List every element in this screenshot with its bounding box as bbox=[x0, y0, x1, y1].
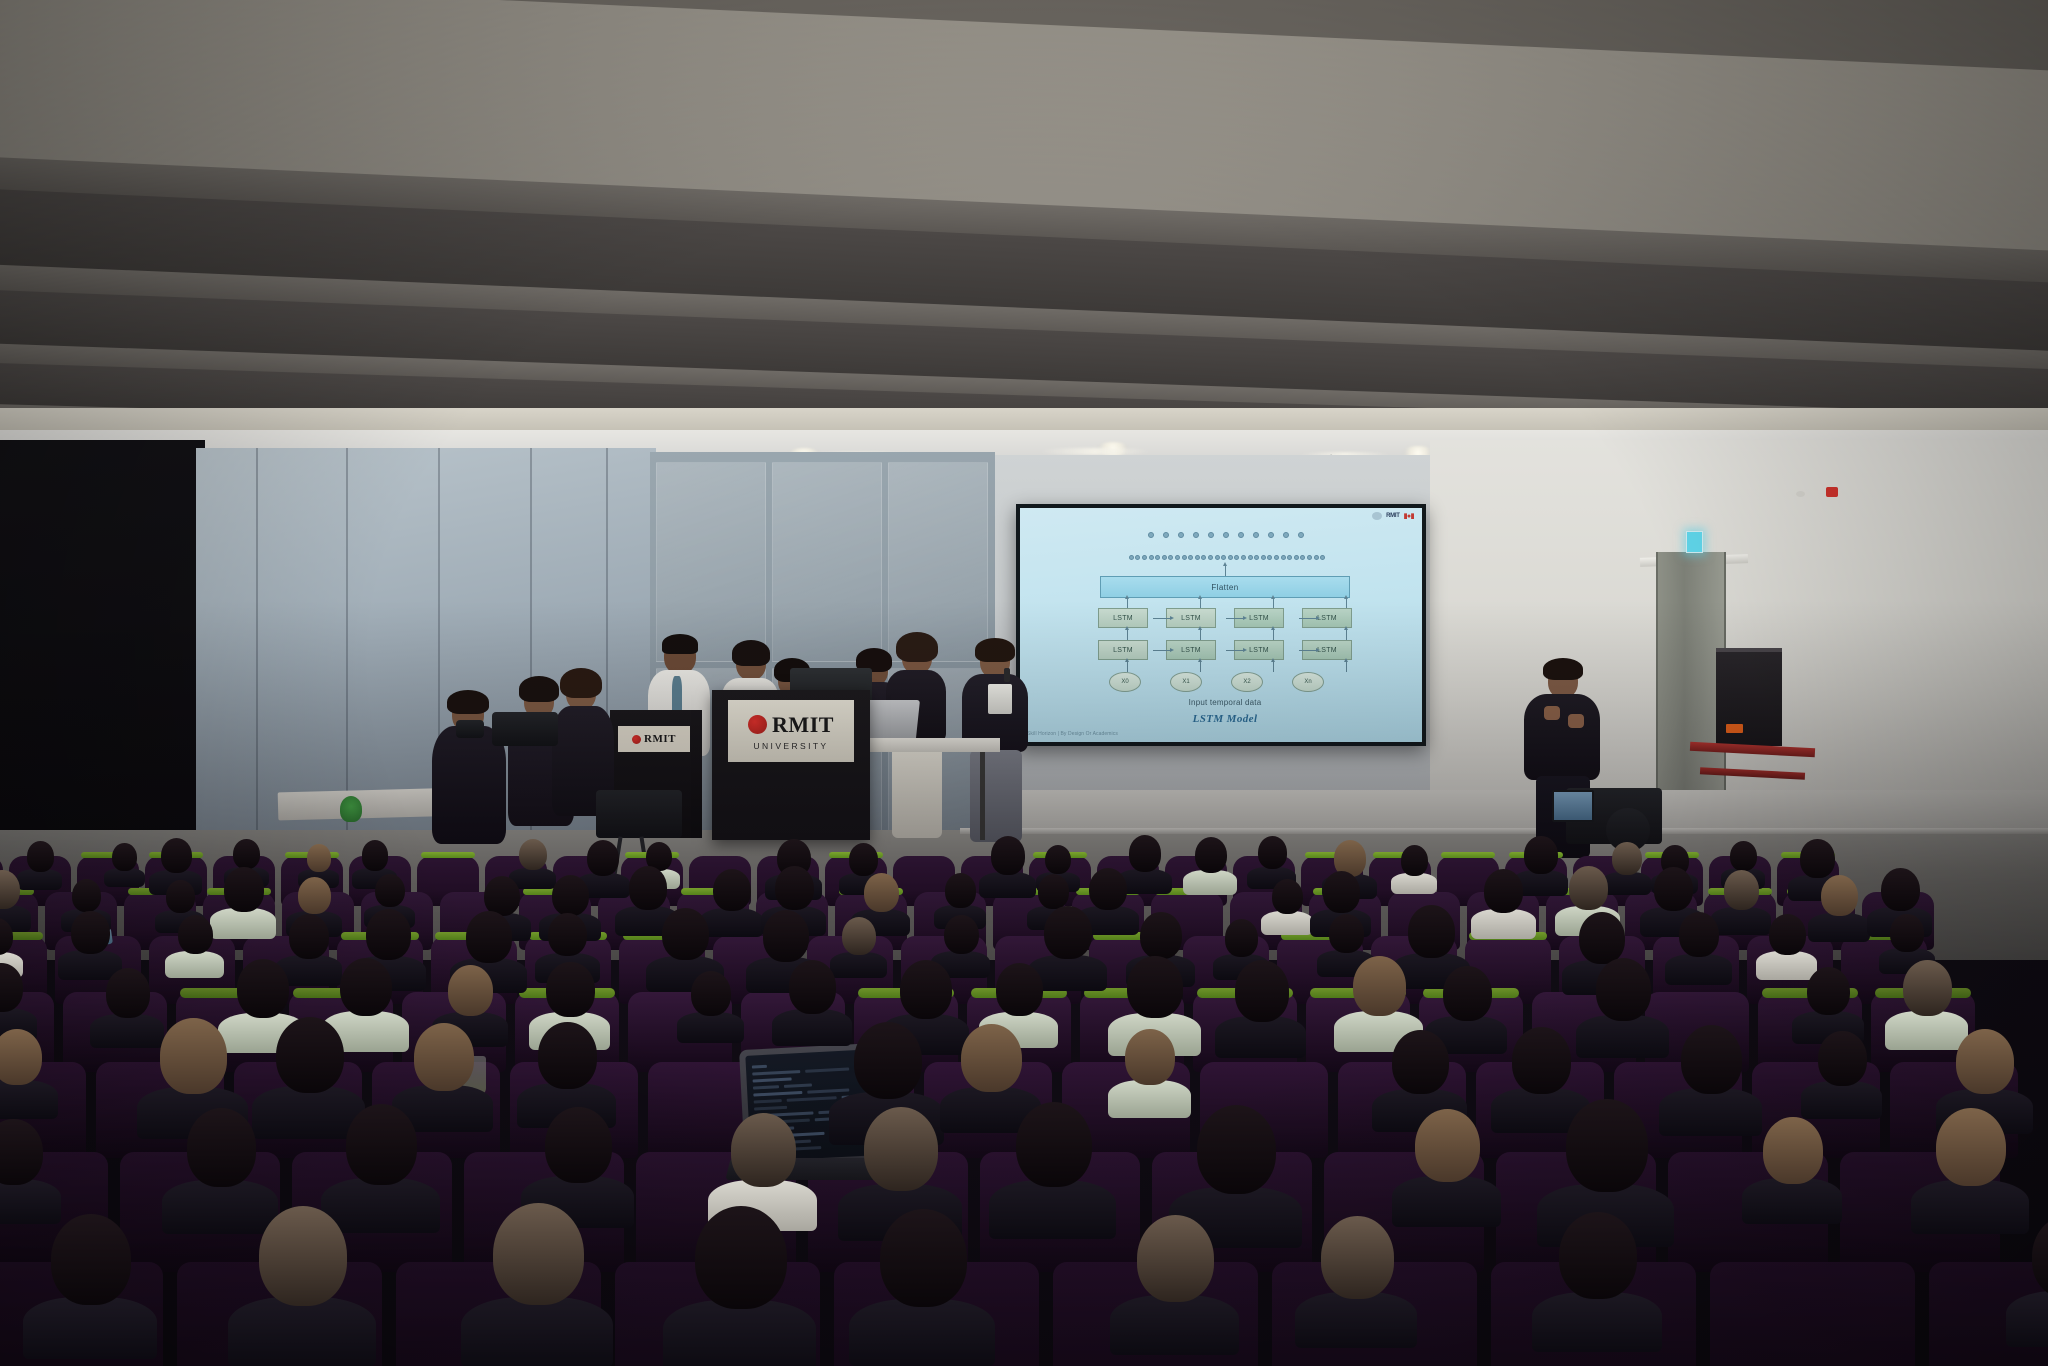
audience-member bbox=[1821, 875, 1858, 917]
audience-member bbox=[160, 1018, 227, 1093]
audience-member-torso bbox=[849, 1299, 994, 1366]
code-text-line bbox=[754, 1106, 787, 1111]
audience-member bbox=[519, 839, 547, 871]
audience-member bbox=[1484, 869, 1523, 913]
audience-member-torso bbox=[0, 1179, 61, 1224]
dense-layer-nodes bbox=[1098, 555, 1356, 560]
slide-surface: RMIT ▮●▮ Flatten LSTMLSTMLSTMLSTM LSTMLS… bbox=[1020, 508, 1422, 742]
audience-member bbox=[51, 1214, 131, 1304]
potted-plant bbox=[340, 796, 362, 822]
jbl-speaker-logo-icon bbox=[1726, 724, 1743, 733]
dense-node bbox=[1287, 555, 1292, 560]
output-node bbox=[1283, 532, 1289, 538]
audience-member-torso bbox=[461, 1297, 613, 1366]
audience-member bbox=[1235, 960, 1289, 1021]
audience-member bbox=[548, 913, 587, 957]
output-node bbox=[1268, 532, 1274, 538]
output-node bbox=[1148, 532, 1154, 538]
partner-logo-icon: ▮●▮ bbox=[1404, 512, 1414, 520]
audience-member bbox=[545, 1107, 612, 1183]
audience-member-torso bbox=[1183, 870, 1237, 895]
audience-member-torso bbox=[677, 1012, 744, 1043]
audience-member bbox=[629, 866, 667, 909]
audience-member-torso bbox=[1391, 873, 1436, 894]
audience-member bbox=[1401, 845, 1428, 876]
code-text-line bbox=[753, 1091, 802, 1097]
audience-member bbox=[1612, 842, 1641, 875]
audience-member bbox=[72, 879, 101, 912]
audience-member bbox=[1443, 966, 1492, 1021]
input-caption-label: Input temporal data bbox=[1020, 698, 1422, 707]
audience-member bbox=[1044, 906, 1091, 959]
camera-monitor-screen bbox=[1552, 790, 1594, 822]
code-text-line bbox=[787, 1096, 837, 1102]
audience-member bbox=[587, 840, 619, 877]
audience-member bbox=[166, 880, 196, 913]
audience-member bbox=[1197, 1105, 1276, 1194]
audience-member bbox=[448, 965, 493, 1016]
audience-member-torso bbox=[1801, 1081, 1883, 1119]
audience-member bbox=[493, 1203, 583, 1305]
audience-member-torso bbox=[104, 868, 145, 887]
audience-member bbox=[864, 1107, 938, 1191]
auditorium-seat[interactable] bbox=[1710, 1262, 1915, 1366]
audience-member bbox=[1936, 1108, 2006, 1187]
smoke-detector-icon bbox=[1796, 491, 1805, 497]
code-text-line bbox=[805, 1067, 849, 1072]
audience-member bbox=[346, 1104, 417, 1184]
audience-member bbox=[1654, 867, 1693, 911]
audience-member-torso bbox=[989, 1180, 1117, 1239]
audience-member bbox=[1415, 1109, 1480, 1183]
main-lectern: RMIT UNIVERSITY bbox=[712, 690, 870, 840]
audience-member-torso bbox=[1108, 1080, 1191, 1118]
audience-member bbox=[944, 915, 979, 955]
audience-member-torso bbox=[210, 908, 276, 939]
output-node bbox=[1298, 532, 1304, 538]
audience-member bbox=[996, 963, 1043, 1016]
audience-member bbox=[161, 838, 193, 874]
output-node bbox=[1163, 532, 1169, 538]
dense-node bbox=[1215, 555, 1220, 560]
dense-node bbox=[1274, 555, 1279, 560]
audience-member bbox=[538, 1022, 597, 1088]
output-node bbox=[1253, 532, 1259, 538]
lecture-theatre-scene: RMIT ▮●▮ Flatten LSTMLSTMLSTMLSTM LSTMLS… bbox=[0, 0, 2048, 1366]
audience-member bbox=[1890, 914, 1923, 952]
rmit-logo-icon bbox=[632, 735, 641, 744]
dense-node bbox=[1155, 555, 1160, 560]
audience-member bbox=[233, 839, 260, 869]
dense-node bbox=[1314, 555, 1319, 560]
dense-node bbox=[1241, 555, 1246, 560]
audience-member bbox=[961, 1024, 1022, 1092]
dense-node bbox=[1261, 555, 1266, 560]
audience-member bbox=[1125, 1029, 1174, 1085]
dense-node bbox=[1188, 555, 1193, 560]
rmit-logo-icon: RMIT bbox=[1386, 513, 1399, 519]
lectern-brand: RMIT bbox=[772, 712, 834, 738]
audience-member-torso bbox=[1808, 913, 1870, 942]
audience-member bbox=[1818, 1031, 1867, 1086]
audience-member-torso bbox=[1110, 1295, 1240, 1355]
audience-member bbox=[1724, 870, 1760, 910]
audience-member-torso bbox=[700, 908, 764, 937]
dense-node bbox=[1135, 555, 1140, 560]
audience-member bbox=[1730, 841, 1757, 871]
dense-node bbox=[1149, 555, 1154, 560]
audience-member bbox=[713, 869, 751, 912]
dense-node bbox=[1307, 555, 1312, 560]
audience-member bbox=[864, 873, 899, 913]
audience-member-torso bbox=[1576, 1015, 1669, 1058]
audience-member-torso bbox=[1659, 1088, 1762, 1136]
audience-member bbox=[1353, 956, 1406, 1016]
audience-member bbox=[1679, 912, 1719, 957]
audience-member bbox=[1137, 1215, 1214, 1302]
dense-node bbox=[1182, 555, 1187, 560]
audience-member bbox=[1140, 912, 1181, 959]
input-node: X2 bbox=[1231, 672, 1263, 692]
audience-member bbox=[276, 1017, 344, 1093]
secondary-lectern-brand: RMIT bbox=[644, 733, 676, 745]
flatten-label: Flatten bbox=[1211, 583, 1238, 592]
slot-light-icon bbox=[1040, 448, 1150, 455]
secondary-lectern-plate: RMIT bbox=[618, 726, 690, 752]
audience-member bbox=[1329, 914, 1364, 953]
audience-member-torso bbox=[772, 1009, 852, 1046]
lstm-cell: LSTM bbox=[1098, 640, 1148, 660]
code-text-line bbox=[754, 1099, 782, 1103]
signing-hand bbox=[1544, 706, 1560, 720]
audience-member bbox=[298, 877, 331, 915]
code-text-line bbox=[752, 1065, 767, 1069]
lectern-brand-plate: RMIT UNIVERSITY bbox=[728, 700, 854, 762]
slide-footer-text: Skill Horizon | By Design Or Academics bbox=[1027, 731, 1118, 737]
audience-member bbox=[289, 914, 329, 959]
dense-node bbox=[1234, 555, 1239, 560]
audience-member bbox=[224, 867, 264, 912]
audience-member bbox=[789, 960, 837, 1014]
audience-member bbox=[546, 962, 595, 1017]
audience-member bbox=[307, 844, 331, 872]
seat-accent-bar bbox=[421, 852, 475, 858]
audience-member bbox=[362, 840, 389, 870]
audience-member bbox=[552, 875, 589, 917]
audience-member-torso bbox=[17, 869, 62, 890]
dense-node bbox=[1281, 555, 1286, 560]
stage-edge bbox=[960, 828, 2048, 834]
audience-member bbox=[71, 911, 109, 954]
audience-member bbox=[1016, 1102, 1092, 1188]
audience-member-torso bbox=[830, 952, 887, 978]
dense-node bbox=[1129, 555, 1134, 560]
audience-member-torso bbox=[1911, 1180, 2028, 1234]
audience-member bbox=[691, 971, 731, 1016]
audience-member bbox=[1512, 1027, 1571, 1093]
audience-member-torso bbox=[1532, 1292, 1662, 1352]
dense-node bbox=[1221, 555, 1226, 560]
code-text-line bbox=[752, 1070, 800, 1076]
audience-member bbox=[1127, 956, 1182, 1019]
audience-member bbox=[106, 968, 150, 1018]
audience-member-torso bbox=[1295, 1292, 1417, 1348]
dense-node bbox=[1300, 555, 1305, 560]
output-node bbox=[1178, 532, 1184, 538]
audience-member bbox=[1038, 874, 1069, 909]
audience-member bbox=[1392, 1030, 1449, 1094]
audience-member bbox=[1408, 905, 1455, 958]
fire-alarm-icon bbox=[1826, 487, 1838, 497]
audience-member bbox=[259, 1206, 347, 1306]
audience-member bbox=[945, 873, 976, 908]
camera-handle bbox=[456, 720, 484, 738]
audience-member-torso bbox=[162, 1180, 278, 1234]
name-badge bbox=[988, 684, 1012, 714]
audience-member bbox=[1807, 967, 1850, 1015]
partner-logo-icon bbox=[1372, 512, 1382, 520]
audience-member-torso bbox=[1885, 1011, 1968, 1049]
audience-member bbox=[695, 1206, 786, 1309]
audience-member bbox=[1881, 868, 1920, 912]
input-node: X1 bbox=[1170, 672, 1202, 692]
audience-member bbox=[854, 1022, 922, 1099]
code-text-line bbox=[784, 1083, 812, 1087]
audience-member bbox=[112, 843, 137, 871]
audience-member-torso bbox=[663, 1300, 816, 1366]
slide-title: LSTM Model bbox=[1020, 713, 1422, 725]
dense-node bbox=[1168, 555, 1173, 560]
audience-member bbox=[1681, 1025, 1743, 1094]
dense-node bbox=[1195, 555, 1200, 560]
audience-member-torso bbox=[90, 1014, 164, 1048]
signing-hand bbox=[1568, 714, 1584, 728]
audience-member-torso bbox=[1392, 1176, 1501, 1226]
slide-logo-group: RMIT ▮●▮ bbox=[1372, 512, 1414, 520]
gimbal-camera-icon bbox=[492, 712, 558, 746]
audience-member bbox=[1566, 1099, 1648, 1192]
audience-member bbox=[178, 915, 213, 954]
audience-member bbox=[1569, 866, 1608, 910]
audience-member-torso bbox=[23, 1297, 157, 1359]
dense-node bbox=[1248, 555, 1253, 560]
audience-member bbox=[1258, 836, 1287, 869]
audience-member bbox=[1195, 837, 1227, 874]
audience-member-torso bbox=[165, 951, 224, 978]
audience-member bbox=[1045, 845, 1071, 874]
audience-member bbox=[466, 911, 512, 962]
audience-member bbox=[775, 866, 814, 910]
dense-node bbox=[1201, 555, 1206, 560]
dense-node bbox=[1320, 555, 1325, 560]
audience-member-torso bbox=[1471, 909, 1536, 939]
audience-member bbox=[414, 1023, 474, 1091]
audience-member-torso bbox=[1711, 907, 1771, 935]
tripod-camera-icon bbox=[596, 790, 682, 838]
microphone-icon bbox=[1004, 668, 1010, 682]
audience-member bbox=[1272, 879, 1303, 914]
lectern-brand-sub: UNIVERSITY bbox=[753, 741, 828, 751]
audience-member bbox=[1089, 868, 1126, 910]
audience-member bbox=[1129, 835, 1162, 872]
audience-member bbox=[849, 843, 878, 875]
audience-member bbox=[900, 960, 953, 1020]
audience-member bbox=[1763, 1117, 1822, 1184]
input-node: X0 bbox=[1109, 672, 1141, 692]
lstm-cell: LSTM bbox=[1098, 608, 1148, 628]
dense-node bbox=[1254, 555, 1259, 560]
seat-accent-bar bbox=[1441, 852, 1495, 858]
audience-member-torso bbox=[1215, 1016, 1306, 1058]
audience-member bbox=[1769, 914, 1805, 955]
audience-member bbox=[27, 841, 54, 871]
audience-member bbox=[1321, 1216, 1394, 1298]
input-node: Xn bbox=[1292, 672, 1324, 692]
audience-member bbox=[366, 909, 411, 960]
audience-member bbox=[880, 1209, 967, 1307]
output-layer-nodes bbox=[1126, 532, 1326, 538]
ceiling bbox=[0, 0, 2048, 470]
output-node bbox=[1193, 532, 1199, 538]
output-node bbox=[1208, 532, 1214, 538]
dense-node bbox=[1294, 555, 1299, 560]
audience-member-torso bbox=[1602, 872, 1651, 895]
audience-member bbox=[842, 917, 876, 955]
audience-member bbox=[1903, 960, 1952, 1016]
audience-member bbox=[1225, 919, 1259, 957]
audience-member bbox=[1323, 871, 1360, 912]
code-text-line bbox=[807, 1088, 849, 1093]
audience-member-torso bbox=[228, 1297, 376, 1365]
audience-member bbox=[1596, 958, 1651, 1020]
audience-member bbox=[375, 874, 405, 908]
projection-screen: RMIT ▮●▮ Flatten LSTMLSTMLSTMLSTM LSTMLS… bbox=[1016, 504, 1426, 746]
audience-member bbox=[731, 1113, 796, 1187]
audience-member-torso bbox=[1665, 954, 1732, 985]
audience-member-torso bbox=[0, 1080, 58, 1119]
dense-node bbox=[1162, 555, 1167, 560]
code-text-line bbox=[753, 1078, 792, 1083]
audience-member bbox=[1579, 912, 1625, 964]
dense-node bbox=[1175, 555, 1180, 560]
jbl-speaker bbox=[1716, 648, 1782, 746]
audience-member bbox=[340, 958, 392, 1017]
audience-member bbox=[662, 908, 709, 961]
audience-member bbox=[1559, 1212, 1636, 1299]
audience-member-torso bbox=[1756, 951, 1817, 979]
input-nodes-row: X0X1X2Xn bbox=[1098, 672, 1352, 692]
audience-member bbox=[187, 1108, 256, 1186]
audience-member-torso bbox=[979, 872, 1037, 899]
code-text-line bbox=[753, 1085, 779, 1089]
dense-node bbox=[1142, 555, 1147, 560]
dense-node bbox=[1267, 555, 1272, 560]
dense-node bbox=[1208, 555, 1213, 560]
audience-member-torso bbox=[321, 1178, 440, 1233]
audience-member bbox=[1800, 839, 1834, 878]
output-node bbox=[1223, 532, 1229, 538]
audience-member bbox=[237, 959, 289, 1018]
dense-node bbox=[1228, 555, 1233, 560]
audience-member bbox=[991, 836, 1025, 875]
audience-member bbox=[763, 910, 809, 962]
rmit-logo-icon bbox=[748, 715, 767, 734]
audience-member bbox=[1956, 1029, 2014, 1094]
audience-member-torso bbox=[1261, 911, 1313, 935]
audience-member-torso bbox=[1742, 1178, 1841, 1224]
emergency-exit-sign-icon bbox=[1686, 531, 1703, 553]
output-node bbox=[1238, 532, 1244, 538]
audience-member bbox=[1524, 836, 1557, 873]
flatten-layer-box: Flatten bbox=[1100, 576, 1350, 598]
